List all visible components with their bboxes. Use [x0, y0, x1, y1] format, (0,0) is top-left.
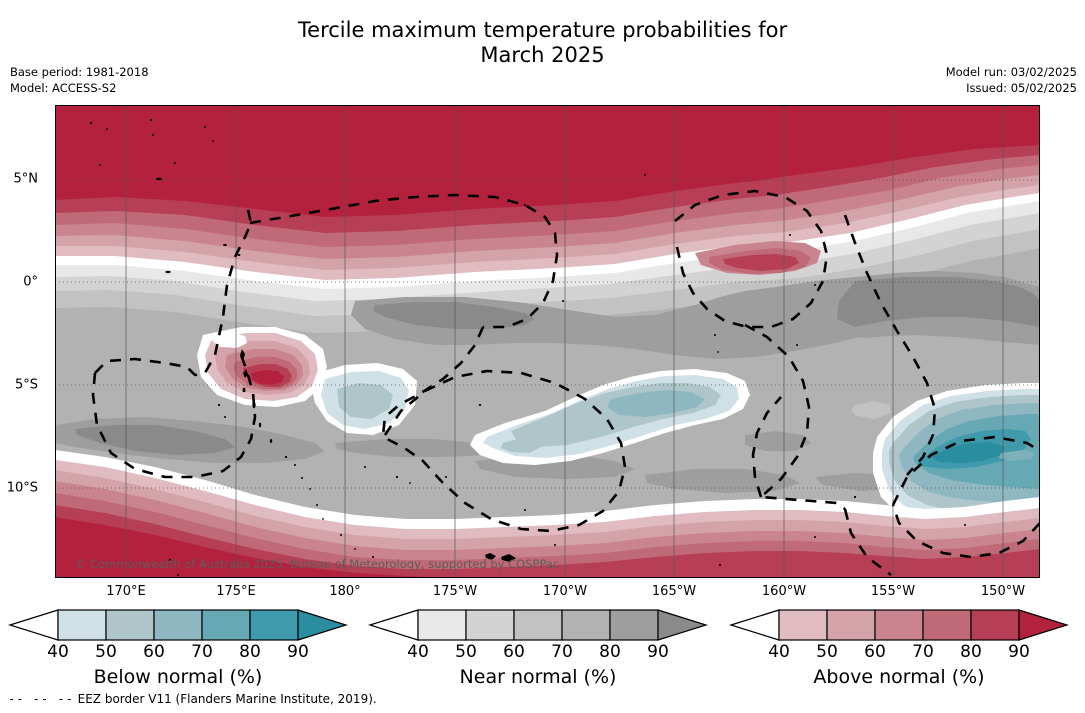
metadata-left: Base period: 1981-2018 Model: ACCESS-S2: [10, 64, 149, 96]
cbar-tick: 90: [1008, 642, 1030, 662]
eez-border-legend: -- -- -- EEZ border V11 (Flanders Marine…: [8, 692, 377, 706]
cbar-tick: 60: [143, 642, 165, 662]
ytick-10S: 10°S: [7, 481, 38, 496]
cbar-tick: 50: [816, 642, 838, 662]
xtick-170W: 170°W: [543, 584, 587, 599]
map-contour-plot: [55, 105, 1040, 578]
ytick-0: 0°: [23, 275, 38, 290]
colorbar-near-normal-swatches: [368, 608, 708, 642]
xtick-170E: 170°E: [106, 584, 146, 599]
eez-dash-sample: -- -- --: [8, 692, 74, 706]
xtick-155W: 155°W: [871, 584, 915, 599]
xtick-165W: 165°W: [652, 584, 696, 599]
colorbar-above-normal-ticks: 40 50 60 70 80 90: [729, 642, 1069, 664]
colorbar-above-normal-title: Above normal (%): [729, 666, 1069, 688]
cbar-tick: 90: [647, 642, 669, 662]
cbar-tick: 70: [551, 642, 573, 662]
xtick-150W: 150°W: [981, 584, 1025, 599]
colorbar-below-normal: 40 50 60 70 80 90 Below normal (%): [8, 608, 348, 688]
colorbar-above-normal: 40 50 60 70 80 90 Above normal (%): [729, 608, 1069, 688]
cbar-tick: 50: [455, 642, 477, 662]
cbar-tick: 40: [47, 642, 69, 662]
cbar-tick: 60: [864, 642, 886, 662]
title-line-1: Tercile maximum temperature probabilitie…: [0, 18, 1085, 43]
base-period-label: Base period: 1981-2018: [10, 64, 149, 80]
cbar-tick: 50: [95, 642, 117, 662]
cbar-tick: 90: [287, 642, 309, 662]
issued-label: Issued: 05/02/2025: [946, 80, 1077, 96]
cbar-tick: 60: [503, 642, 525, 662]
colorbar-near-normal: 40 50 60 70 80 90 Near normal (%): [368, 608, 708, 688]
colorbar-below-normal-ticks: 40 50 60 70 80 90: [8, 642, 348, 664]
cbar-tick: 40: [407, 642, 429, 662]
xtick-175E: 175°E: [216, 584, 256, 599]
colorbar-near-normal-ticks: 40 50 60 70 80 90: [368, 642, 708, 664]
cbar-tick: 70: [191, 642, 213, 662]
contour-fills: [55, 105, 1040, 578]
colorbar-near-normal-title: Near normal (%): [368, 666, 708, 688]
xtick-180: 180°: [329, 584, 360, 599]
title-line-2: March 2025: [0, 43, 1085, 68]
cbar-tick: 40: [768, 642, 790, 662]
ytick-5S: 5°S: [15, 378, 38, 393]
cbar-tick: 80: [239, 642, 261, 662]
xtick-160W: 160°W: [762, 584, 806, 599]
ytick-5N: 5°N: [14, 172, 39, 187]
metadata-right: Model run: 03/02/2025 Issued: 05/02/2025: [946, 64, 1077, 96]
colorbar-below-normal-swatches: [8, 608, 348, 642]
copyright-credit: © Commonwealth of Australia 2025, Bureau…: [75, 557, 559, 571]
model-label: Model: ACCESS-S2: [10, 80, 149, 96]
cbar-tick: 80: [960, 642, 982, 662]
xtick-175W: 175°W: [433, 584, 477, 599]
cbar-tick: 80: [599, 642, 621, 662]
page-title: Tercile maximum temperature probabilitie…: [0, 18, 1085, 68]
eez-legend-text: EEZ border V11 (Flanders Marine Institut…: [78, 692, 377, 706]
model-run-label: Model run: 03/02/2025: [946, 64, 1077, 80]
forecast-map: © Commonwealth of Australia 2025, Bureau…: [55, 105, 1040, 578]
cbar-tick: 70: [912, 642, 934, 662]
colorbar-above-normal-swatches: [729, 608, 1069, 642]
colorbar-below-normal-title: Below normal (%): [8, 666, 348, 688]
